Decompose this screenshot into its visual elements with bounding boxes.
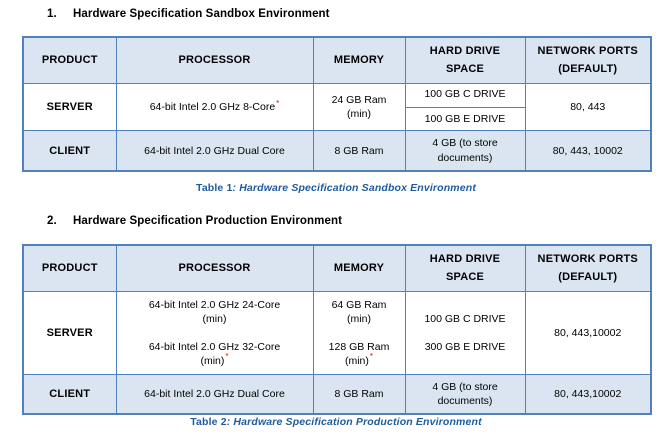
section-title-2: Hardware Specification Production Enviro… <box>73 215 342 227</box>
col-header-hard-drive-line1: HARD DRIVE <box>430 253 500 265</box>
table-1-caption-text: : Hardware Specification Sandbox Environ… <box>232 182 475 194</box>
col-header-memory-line1: MEMORY <box>334 262 384 274</box>
cell-network-ports-server: 80, 443 <box>525 84 651 131</box>
cell-memory-server-option-a: 64 GB Ram (min) <box>318 298 401 326</box>
cell-network-ports-client: 80, 443, 10002 <box>525 131 651 171</box>
cell-hard-drive-client: 4 GB (to store documents) <box>405 131 525 171</box>
col-header-hard-drive-space: HARD DRIVE SPACE <box>405 37 525 84</box>
cell-hard-drive-client-line1: 4 GB (to store <box>432 381 497 393</box>
col-header-network-line1: NETWORK PORTS <box>538 45 638 57</box>
cell-hard-drive-server-1: 100 GB C DRIVE <box>410 312 521 326</box>
cell-memory-client-text: 8 GB Ram <box>334 145 383 157</box>
cell-processor-server-option-a: 64-bit Intel 2.0 GHz 24-Core (min) <box>121 298 309 326</box>
table-row: SERVER 64-bit Intel 2.0 GHz 24-Core (min… <box>23 292 651 375</box>
col-header-processor-line1: PROCESSOR <box>178 262 250 274</box>
cell-product-client: CLIENT <box>23 374 116 414</box>
table-1-header: PRODUCT PROCESSOR MEMORY HARD DRIVE SPAC… <box>23 37 651 84</box>
cell-hard-drive-client-line2: documents) <box>438 395 493 407</box>
cell-memory-server-b-line1: 128 GB Ram <box>329 341 390 353</box>
section-number-2: 2. <box>47 215 73 227</box>
col-header-network-line1: NETWORK PORTS <box>538 253 638 265</box>
col-header-processor: PROCESSOR <box>116 37 313 84</box>
table-row: CLIENT 64-bit Intel 2.0 GHz Dual Core 8 … <box>23 131 651 171</box>
col-header-product-line1: PRODUCT <box>42 262 98 274</box>
required-asterisk-icon: * <box>275 99 279 108</box>
spacer <box>318 327 401 340</box>
section-heading-2: 2. Hardware Specification Production Env… <box>47 215 342 227</box>
table-row: SERVER 64-bit Intel 2.0 GHz 8-Core* 24 G… <box>23 84 651 108</box>
cell-memory-client-text: 8 GB Ram <box>334 388 383 400</box>
col-header-product: PRODUCT <box>23 245 116 292</box>
cell-product-server: SERVER <box>23 84 116 131</box>
table-1-caption-label: Table 1 <box>196 182 232 194</box>
cell-hard-drive-server: 100 GB C DRIVE 300 GB E DRIVE <box>405 292 525 375</box>
hardware-spec-production-table: PRODUCT PROCESSOR MEMORY HARD DRIVE SPAC… <box>22 244 652 415</box>
cell-hard-drive-client-line2: documents) <box>438 152 493 164</box>
cell-memory-server-a-line1: 64 GB Ram <box>332 299 387 311</box>
col-header-product: PRODUCT <box>23 37 116 84</box>
cell-processor-client: 64-bit Intel 2.0 GHz Dual Core <box>116 131 313 171</box>
cell-processor-server: 64-bit Intel 2.0 GHz 8-Core* <box>116 84 313 131</box>
cell-hard-drive-server-1-text: 100 GB C DRIVE <box>424 88 505 100</box>
col-header-hard-drive-line1: HARD DRIVE <box>430 45 500 57</box>
col-header-hard-drive-space: HARD DRIVE SPACE <box>405 245 525 292</box>
document-page: 1. Hardware Specification Sandbox Enviro… <box>0 0 672 446</box>
required-asterisk-icon: * <box>224 352 228 361</box>
cell-processor-server: 64-bit Intel 2.0 GHz 24-Core (min) 64-bi… <box>116 292 313 375</box>
cell-network-ports-server: 80, 443,10002 <box>525 292 651 375</box>
col-header-product-line1: PRODUCT <box>42 54 98 66</box>
cell-processor-client-text: 64-bit Intel 2.0 GHz Dual Core <box>144 388 285 400</box>
table-2-header: PRODUCT PROCESSOR MEMORY HARD DRIVE SPAC… <box>23 245 651 292</box>
cell-memory-server-line1: 24 GB Ram <box>332 94 387 106</box>
cell-processor-client-text: 64-bit Intel 2.0 GHz Dual Core <box>144 145 285 157</box>
table-1-header-row: PRODUCT PROCESSOR MEMORY HARD DRIVE SPAC… <box>23 37 651 84</box>
col-header-memory: MEMORY <box>313 245 405 292</box>
cell-processor-server-text: 64-bit Intel 2.0 GHz 8-Core <box>150 101 275 113</box>
cell-product-client: CLIENT <box>23 131 116 171</box>
col-header-hard-drive-line2: SPACE <box>446 271 484 283</box>
col-header-processor-line1: PROCESSOR <box>178 54 250 66</box>
cell-memory-server-option-b: 128 GB Ram (min)* <box>318 340 401 368</box>
table-row: CLIENT 64-bit Intel 2.0 GHz Dual Core 8 … <box>23 374 651 414</box>
cell-network-ports-client: 80, 443,10002 <box>525 374 651 414</box>
cell-hard-drive-server-2-text: 100 GB E DRIVE <box>425 113 506 125</box>
cell-memory-server-b-line2: (min) <box>345 355 369 367</box>
spacer <box>410 327 521 340</box>
hardware-spec-sandbox-table: PRODUCT PROCESSOR MEMORY HARD DRIVE SPAC… <box>22 36 652 172</box>
table-2-header-row: PRODUCT PROCESSOR MEMORY HARD DRIVE SPAC… <box>23 245 651 292</box>
cell-memory-server-a-line2: (min) <box>347 313 371 325</box>
cell-hard-drive-client: 4 GB (to store documents) <box>405 374 525 414</box>
col-header-network-ports: NETWORK PORTS (DEFAULT) <box>525 37 651 84</box>
cell-hard-drive-server-1: 100 GB C DRIVE <box>405 84 525 108</box>
col-header-network-ports: NETWORK PORTS (DEFAULT) <box>525 245 651 292</box>
col-header-memory-line1: MEMORY <box>334 54 384 66</box>
table-2-caption: Table 2: Hardware Specification Producti… <box>22 416 650 428</box>
cell-product-server: SERVER <box>23 292 116 375</box>
cell-processor-server-a-line1: 64-bit Intel 2.0 GHz 24-Core <box>149 299 280 311</box>
cell-memory-server: 24 GB Ram (min) <box>313 84 405 131</box>
table-2-caption-label: Table 2 <box>190 416 226 428</box>
cell-memory-server: 64 GB Ram (min) 128 GB Ram (min)* <box>313 292 405 375</box>
cell-memory-client: 8 GB Ram <box>313 131 405 171</box>
section-heading-1: 1. Hardware Specification Sandbox Enviro… <box>47 8 330 20</box>
table-2-caption-text: : Hardware Specification Production Envi… <box>227 416 482 428</box>
cell-hard-drive-client-line1: 4 GB (to store <box>432 137 497 149</box>
section-title-1: Hardware Specification Sandbox Environme… <box>73 8 330 20</box>
section-number-1: 1. <box>47 8 73 20</box>
spacer <box>121 327 309 340</box>
col-header-network-line2: (DEFAULT) <box>558 271 617 283</box>
cell-processor-server-b-line1: 64-bit Intel 2.0 GHz 32-Core <box>149 341 280 353</box>
cell-processor-server-a-line2: (min) <box>203 313 227 325</box>
table-1-caption: Table 1: Hardware Specification Sandbox … <box>22 182 650 194</box>
col-header-hard-drive-line2: SPACE <box>446 63 484 75</box>
cell-memory-server-line2: (min) <box>347 108 371 120</box>
col-header-memory: MEMORY <box>313 37 405 84</box>
cell-processor-server-b-line2: (min) <box>200 355 224 367</box>
cell-processor-server-option-b: 64-bit Intel 2.0 GHz 32-Core (min)* <box>121 340 309 368</box>
cell-hard-drive-server-2: 300 GB E DRIVE <box>410 340 521 354</box>
required-asterisk-icon: * <box>369 352 373 361</box>
cell-memory-client: 8 GB Ram <box>313 374 405 414</box>
col-header-processor: PROCESSOR <box>116 245 313 292</box>
cell-hard-drive-server-2: 100 GB E DRIVE <box>405 107 525 131</box>
col-header-network-line2: (DEFAULT) <box>558 63 617 75</box>
cell-processor-client: 64-bit Intel 2.0 GHz Dual Core <box>116 374 313 414</box>
